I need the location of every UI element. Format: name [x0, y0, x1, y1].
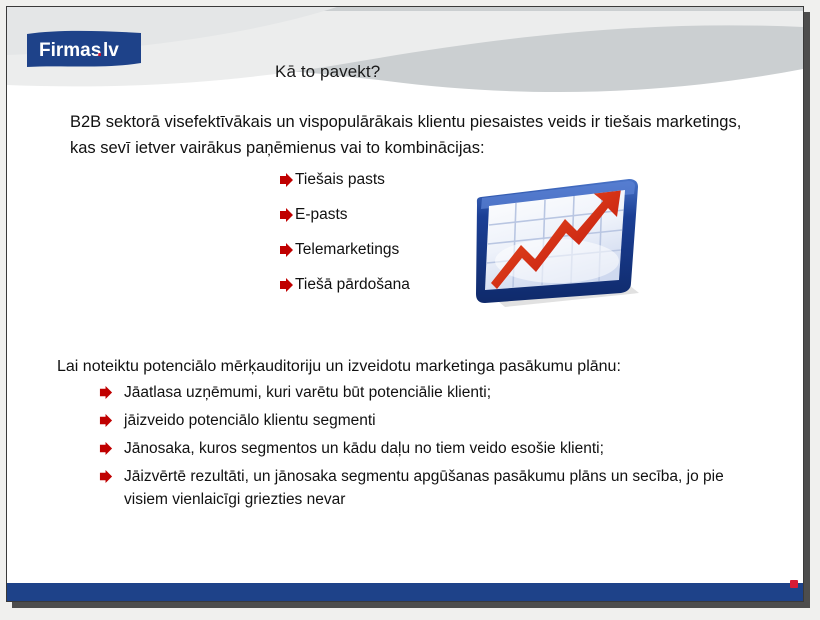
- list-item: E-pasts: [279, 205, 410, 225]
- logo-text-tld: lv: [103, 40, 119, 61]
- list-item: Jāizvērtē rezultāti, un jānosaka segment…: [99, 465, 759, 511]
- list-item: Jānosaka, kuros segmentos un kādu daļu n…: [99, 437, 759, 460]
- list-item-label: Jāatlasa uzņēmumi, kuri varētu būt poten…: [124, 381, 759, 404]
- growth-chart-clipart-icon: [469, 173, 645, 319]
- red-arrow-bullet-icon: [279, 277, 294, 293]
- footer-accent-dot: [790, 580, 798, 588]
- logo-text-dot: .: [97, 40, 102, 61]
- list-item: Telemarketings: [279, 240, 410, 260]
- list-item-label: jāizveido potenciālo klientu segmenti: [124, 409, 759, 432]
- page-title: Kā to pavekt?: [275, 62, 380, 82]
- list-item-label: Tiešais pasts: [295, 170, 385, 190]
- logo-text-main: Firmas: [39, 40, 101, 61]
- list-item-label: Tiešā pārdošana: [295, 275, 410, 295]
- list-item: Tiešais pasts: [279, 170, 410, 190]
- red-arrow-bullet-icon: [99, 441, 113, 456]
- presentation-slide: Firmas . lv Kā to pavekt? B2B sektorā vi…: [6, 6, 804, 602]
- plan-list: Jāatlasa uzņēmumi, kuri varētu būt poten…: [99, 381, 759, 516]
- firmas-lv-logo[interactable]: Firmas . lv: [25, 29, 143, 71]
- red-arrow-bullet-icon: [279, 172, 294, 188]
- list-item-label: Jāizvērtē rezultāti, un jānosaka segment…: [124, 465, 759, 511]
- list-item-label: Telemarketings: [295, 240, 399, 260]
- red-arrow-bullet-icon: [279, 207, 294, 223]
- plan-lead-text: Lai noteiktu potenciālo mērķauditoriju u…: [57, 355, 621, 379]
- list-item-label: Jānosaka, kuros segmentos un kādu daļu n…: [124, 437, 759, 460]
- channel-list: Tiešais pasts E-pasts Telemarketings: [279, 170, 410, 310]
- list-item-label: E-pasts: [295, 205, 348, 225]
- list-item: Jāatlasa uzņēmumi, kuri varētu būt poten…: [99, 381, 759, 404]
- list-item: Tiešā pārdošana: [279, 275, 410, 295]
- red-arrow-bullet-icon: [99, 385, 113, 400]
- red-arrow-bullet-icon: [99, 469, 113, 484]
- list-item: jāizveido potenciālo klientu segmenti: [99, 409, 759, 432]
- red-arrow-bullet-icon: [99, 413, 113, 428]
- footer-bar: [7, 583, 803, 601]
- intro-paragraph: B2B sektorā visefektīvākais un vispopulā…: [70, 109, 750, 161]
- slide-stage: Firmas . lv Kā to pavekt? B2B sektorā vi…: [0, 0, 820, 620]
- red-arrow-bullet-icon: [279, 242, 294, 258]
